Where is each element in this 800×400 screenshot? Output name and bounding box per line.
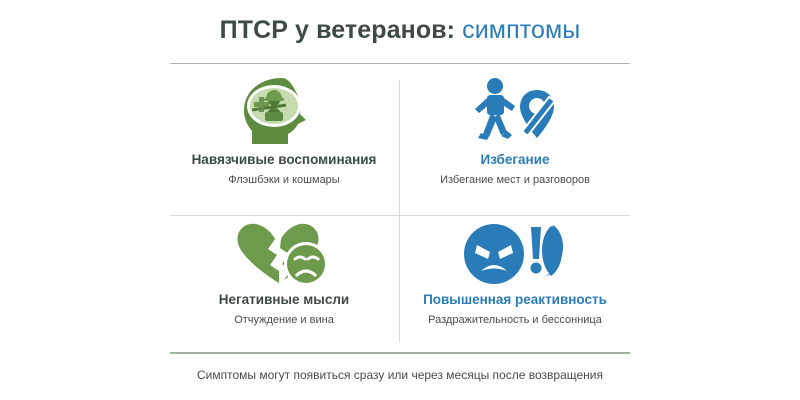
footer-note: Симптомы могут появиться сразу или через… <box>50 368 750 382</box>
broken-heart-sad-face-icon <box>234 218 334 290</box>
page-title: ПТСР у ветеранов: симптомы <box>50 16 750 45</box>
grid-vertical-divider <box>399 80 400 342</box>
symptom-card-hyperarousal[interactable]: Повышенная реактивность Раздражительност… <box>401 218 629 358</box>
page-edge-left <box>0 0 50 400</box>
slide-canvas: ПТСР у ветеранов: симптомы <box>50 0 750 400</box>
footer-divider-rule <box>170 352 630 354</box>
symptom-heading: Негативные мысли <box>219 292 349 308</box>
symptom-card-negative-thoughts[interactable]: Негативные мысли Отчуждение и вина <box>170 218 398 358</box>
symptom-heading: Избегание <box>480 152 549 168</box>
angry-face-exclamation-moon-icon <box>461 218 569 290</box>
title-accent-text: симптомы <box>462 16 580 44</box>
head-soldier-memory-icon <box>236 72 332 150</box>
title-divider-rule <box>170 63 630 64</box>
symptom-grid: Навязчивые воспоминания Флэшбэки и кошма… <box>170 72 630 347</box>
infographic-slide: ПТСР у ветеранов: симптомы <box>0 0 800 400</box>
title-block: ПТСР у ветеранов: симптомы <box>50 16 750 45</box>
symptom-card-intrusive-memories[interactable]: Навязчивые воспоминания Флэшбэки и кошма… <box>170 72 398 212</box>
symptom-heading: Повышенная реактивность <box>423 292 607 308</box>
symptom-subtitle: Флэшбэки и кошмары <box>228 174 339 187</box>
page-edge-right <box>750 0 800 400</box>
symptom-subtitle: Отчуждение и вина <box>234 314 334 327</box>
symptom-card-avoidance[interactable]: Избегание Избегание мест и разговоров <box>401 72 629 212</box>
symptom-heading: Навязчивые воспоминания <box>192 152 377 168</box>
grid-horizontal-divider <box>170 215 630 216</box>
symptom-subtitle: Избегание мест и разговоров <box>440 174 590 187</box>
symptom-subtitle: Раздражительность и бессонница <box>428 314 602 327</box>
walking-person-no-place-icon <box>465 72 565 150</box>
title-main-text: ПТСР у ветеранов: <box>220 16 455 44</box>
